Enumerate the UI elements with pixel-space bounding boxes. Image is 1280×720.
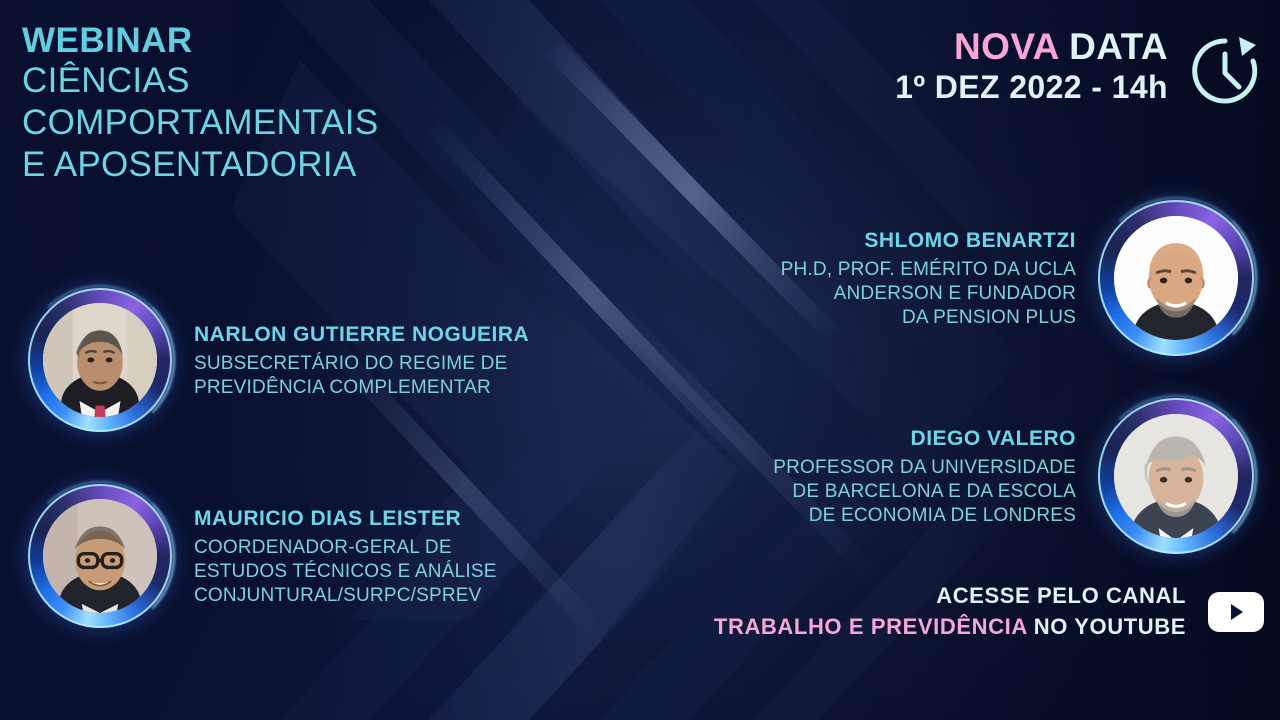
call-to-action[interactable]: ACESSE PELO CANAL TRABALHO E PREVIDÊNCIA… bbox=[714, 582, 1264, 642]
speaker-card-mauricio: MAURICIO DIAS LEISTER COORDENADOR-GERAL … bbox=[28, 484, 588, 628]
speaker-card-narlon: NARLON GUTIERRE NOGUEIRA SUBSECRETÁRIO D… bbox=[28, 288, 588, 432]
avatar bbox=[1098, 200, 1254, 356]
title-line-2: COMPORTAMENTAIS bbox=[22, 103, 542, 144]
speaker-role-line-1: PH.D, PROF. EMÉRITO DA UCLA bbox=[781, 258, 1076, 282]
speaker-info: MAURICIO DIAS LEISTER COORDENADOR-GERAL … bbox=[194, 505, 497, 608]
speaker-role-line-2: PREVIDÊNCIA COMPLEMENTAR bbox=[194, 376, 529, 400]
cta-channel-suffix: NO YOUTUBE bbox=[1034, 614, 1186, 639]
speaker-card-shlomo: SHLOMO BENARTZI PH.D, PROF. EMÉRITO DA U… bbox=[781, 200, 1254, 356]
speaker-name: MAURICIO DIAS LEISTER bbox=[194, 505, 497, 532]
cta-line-2: TRABALHO E PREVIDÊNCIA NO YOUTUBE bbox=[714, 613, 1186, 642]
speaker-name: DIEGO VALERO bbox=[773, 425, 1076, 452]
headline-block: WEBINAR CIÊNCIAS COMPORTAMENTAIS E APOSE… bbox=[22, 22, 542, 186]
speaker-info: NARLON GUTIERRE NOGUEIRA SUBSECRETÁRIO D… bbox=[194, 321, 529, 400]
speaker-photo bbox=[1114, 216, 1238, 340]
clock-reschedule-icon bbox=[1186, 32, 1264, 115]
avatar bbox=[28, 288, 172, 432]
cta-channel-name: TRABALHO E PREVIDÊNCIA bbox=[714, 614, 1027, 639]
title-line-3: E APOSENTADORIA bbox=[22, 145, 542, 186]
speaker-photo bbox=[43, 499, 157, 613]
speaker-role-line-1: PROFESSOR DA UNIVERSIDADE bbox=[773, 456, 1076, 480]
youtube-icon[interactable] bbox=[1208, 592, 1264, 632]
avatar bbox=[1098, 398, 1254, 554]
speaker-name: NARLON GUTIERRE NOGUEIRA bbox=[194, 321, 529, 348]
speaker-role-line-3: CONJUNTURAL/SURPC/SPREV bbox=[194, 584, 497, 608]
speaker-photo bbox=[1114, 414, 1238, 538]
speaker-role-line-3: DA PENSION PLUS bbox=[781, 306, 1076, 330]
date-nova-word: NOVA bbox=[954, 26, 1058, 67]
speaker-role-line-3: DE ECONOMIA DE LONDRES bbox=[773, 504, 1076, 528]
speaker-photo bbox=[43, 303, 157, 417]
date-data-word: DATA bbox=[1069, 26, 1168, 67]
cta-line-1: ACESSE PELO CANAL bbox=[714, 582, 1186, 611]
speaker-role-line-2: DE BARCELONA E DA ESCOLA bbox=[773, 480, 1076, 504]
speaker-name: SHLOMO BENARTZI bbox=[781, 227, 1076, 254]
avatar bbox=[28, 484, 172, 628]
speaker-card-diego: DIEGO VALERO PROFESSOR DA UNIVERSIDADE D… bbox=[773, 398, 1254, 554]
webinar-poster: WEBINAR CIÊNCIAS COMPORTAMENTAIS E APOSE… bbox=[0, 0, 1280, 720]
speaker-role-line-2: ANDERSON E FUNDADOR bbox=[781, 282, 1076, 306]
title-line-1: CIÊNCIAS bbox=[22, 61, 542, 102]
date-heading: NOVA DATA bbox=[895, 26, 1168, 67]
speaker-info: SHLOMO BENARTZI PH.D, PROF. EMÉRITO DA U… bbox=[781, 227, 1076, 330]
date-value: 1º DEZ 2022 - 14h bbox=[895, 69, 1168, 106]
date-block: NOVA DATA 1º DEZ 2022 - 14h bbox=[895, 26, 1264, 115]
kicker-webinar: WEBINAR bbox=[22, 22, 542, 60]
speaker-role-line-1: COORDENADOR-GERAL DE bbox=[194, 536, 497, 560]
speaker-role-line-1: SUBSECRETÁRIO DO REGIME DE bbox=[194, 352, 529, 376]
speaker-role-line-2: ESTUDOS TÉCNICOS E ANÁLISE bbox=[194, 560, 497, 584]
speaker-info: DIEGO VALERO PROFESSOR DA UNIVERSIDADE D… bbox=[773, 425, 1076, 528]
